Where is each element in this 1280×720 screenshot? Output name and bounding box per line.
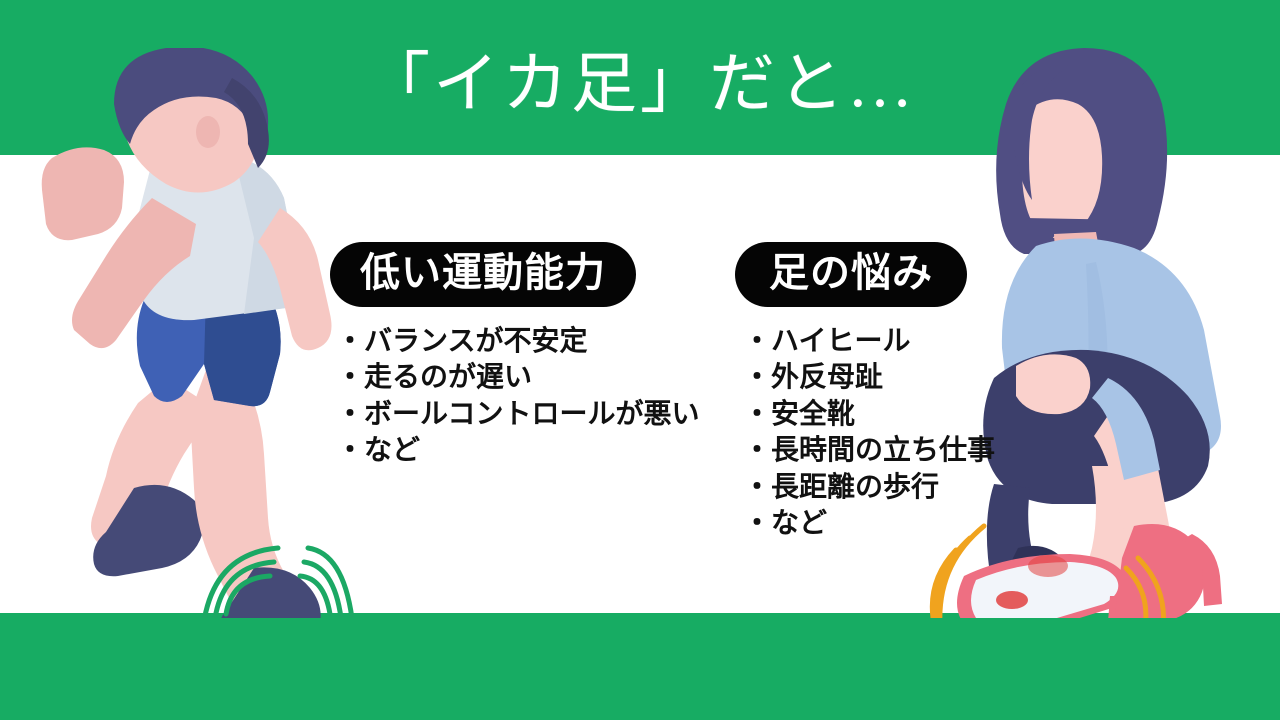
- page-title: 「イカ足」だと…: [0, 18, 1280, 138]
- list-item: など: [336, 432, 720, 468]
- bottom-green-band: [0, 613, 1280, 720]
- heading-pill-low-athletic-ability: 低い運動能力: [330, 242, 636, 307]
- list-item: 走るのが遅い: [336, 359, 720, 395]
- list-item: など: [743, 505, 1025, 541]
- list-item: 長時間の立ち仕事: [743, 432, 1025, 468]
- list-item: ボールコントロールが悪い: [336, 396, 720, 432]
- bullet-list-low-athletic-ability: バランスが不安定 走るのが遅い ボールコントロールが悪い など: [336, 323, 720, 469]
- column-foot-problems: 足の悩み ハイヒール 外反母趾 安全靴 長時間の立ち仕事 長距離の歩行 など: [735, 242, 1025, 541]
- heading-pill-foot-problems: 足の悩み: [735, 242, 967, 307]
- list-item: バランスが不安定: [336, 323, 720, 359]
- list-item: 外反母趾: [743, 359, 1025, 395]
- list-item: ハイヒール: [743, 323, 1025, 359]
- column-low-athletic-ability: 低い運動能力 バランスが不安定 走るのが遅い ボールコントロールが悪い など: [330, 242, 720, 469]
- list-item: 安全靴: [743, 396, 1025, 432]
- list-item: 長距離の歩行: [743, 469, 1025, 505]
- slide-canvas: 低い運動能力 バランスが不安定 走るのが遅い ボールコントロールが悪い など 足…: [0, 0, 1280, 720]
- bullet-list-foot-problems: ハイヒール 外反母趾 安全靴 長時間の立ち仕事 長距離の歩行 など: [743, 323, 1025, 541]
